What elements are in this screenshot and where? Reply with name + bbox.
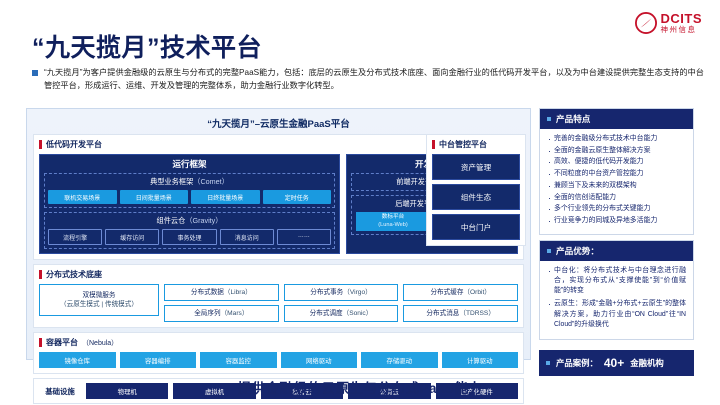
dual-mode-microservice-cell-wrap: 双模微服务 （云原生模式 | 传统模式） [39,284,159,322]
product-advantages-header: 产品优势： [540,241,693,261]
section-marker-icon [39,140,42,149]
feature-item: 多个行业领先的分布式关键能力 [547,204,686,215]
runtime-framework-title: 运行框架 [40,155,339,173]
product-features-header: 产品特点 [540,109,693,129]
comet-chip[interactable]: 日间批量场景 [120,190,189,204]
runtime-framework-card: 运行框架 典型业务框架（Comet） 联机交易场景 日间批量场景 日终批量场景 … [39,154,340,254]
section-marker-icon [39,338,42,347]
base-column: 分布式事务（Virgo） 分布式调度（Sonic） [284,284,399,322]
feature-item: 完善的金融级分布式技术中台能力 [547,134,686,145]
cell-cn: 分布式事务 [310,289,343,296]
comet-title-cn: 典型业务框架 [150,177,193,186]
product-features-list: 完善的金融级分布式技术中台能力 全面的金融云原生整体解决方案 高效、便捷的低代码… [540,129,693,234]
bullet-square-icon [546,361,550,365]
product-case-label: 产品案例： [556,357,598,369]
cell-cn: 分布式缓存 [430,289,463,296]
product-advantages-title: 产品优势： [556,245,599,257]
container-chip[interactable]: 容器监控 [200,352,277,368]
dual-mode-line2: （云原生模式 | 传统模式） [60,301,138,308]
container-chip[interactable]: 存储驱动 [361,352,438,368]
page-title: “九天揽月”技术平台 [32,28,262,64]
cell-cn: 分布式消息 [426,310,459,317]
container-platform-section: 容器平台 （Nebula） 镜像仓库 容器编排 容器监控 网络驱动 存储驱动 计… [33,332,524,374]
container-platform-sub: （Nebula） [82,338,118,348]
base-column: 分布式数据（Libra） 全局序列（Mars） [164,284,279,322]
control-box-portal[interactable]: 中台门户 [432,214,520,240]
architecture-diagram: “九天揽月”–云原生金融PaaS平台 低代码开发平台 运行框架 典型业务框架（C… [26,108,694,360]
container-chip[interactable]: 计算驱动 [442,352,519,368]
gravity-chip[interactable]: 事务处理 [162,229,216,245]
footer-caption: 提供金融级的云原生与分布式PaaS能力 [0,377,720,397]
cell-en: （Sonic） [343,310,373,317]
section-marker-icon [39,270,42,279]
feature-item: 不同粒度的中台资产管控能力 [547,169,686,180]
global-sequence-cell[interactable]: 全局序列（Mars） [164,305,279,322]
control-platform-card: 中台管控平台 资产管理 组件生态 中台门户 [426,134,526,246]
board-title: “九天揽月”–云原生金融PaaS平台 [33,114,524,134]
cell-cn: 全局序列 [194,310,220,317]
control-platform-wrapper: 中台管控平台 资产管理 组件生态 中台门户 [426,134,526,246]
cell-en: （Orbit） [463,289,490,296]
control-box-asset-management[interactable]: 资产管理 [432,154,520,180]
distributed-base-header: 分布式技术底座 [39,269,518,280]
cell-en: （Virgo） [343,289,371,296]
cell-en: （TDRSS） [459,310,495,317]
container-chip[interactable]: 网络驱动 [281,352,358,368]
product-case-bar: 产品案例： 40+ 金融机构 [539,350,694,376]
product-advantages-list: 中台化：将分布式技术与中台理念进行融合，实现分布式从“支撑使能”到“价值赋能”的… [540,261,693,339]
gravity-chip[interactable]: 流程引擎 [48,229,102,245]
container-platform-header: 容器平台 （Nebula） [39,337,518,348]
distributed-cache-cell[interactable]: 分布式缓存（Orbit） [403,284,518,301]
container-chip[interactable]: 镜像仓库 [39,352,116,368]
gravity-title: 组件云仓（Gravity） [48,216,331,229]
feature-item: 全面的金融云原生整体解决方案 [547,146,686,157]
advantage-item: 中台化：将分布式技术与中台理念进行融合，实现分布式从“支撑使能”到“价值赋能”的… [547,266,686,297]
comet-title-en: （Comet） [193,177,229,186]
section-marker-icon [432,140,435,149]
distributed-data-cell[interactable]: 分布式数据（Libra） [164,284,279,301]
cell-cn: 分布式调度 [310,310,343,317]
luna-web-en: (Luna-Web) [378,222,407,228]
cell-cn: 分布式数据 [191,289,224,296]
luna-web-cn: 数标平台 [382,214,404,220]
product-features-panel: 产品特点 完善的金融级分布式技术中台能力 全面的金融云原生整体解决方案 高效、便… [539,108,694,235]
brand-logo: DCITS 神州信息 [635,12,703,34]
platform-board-wrapper: “九天揽月”–云原生金融PaaS平台 低代码开发平台 运行框架 典型业务框架（C… [26,108,531,360]
lowcode-section-label: 低代码开发平台 [46,139,102,150]
product-case-unit: 金融机构 [630,357,664,369]
bullet-square-icon [32,70,38,76]
distributed-message-cell[interactable]: 分布式消息（TDRSS） [403,305,518,322]
distributed-scheduling-cell[interactable]: 分布式调度（Sonic） [284,305,399,322]
cell-en: （Mars） [221,310,249,317]
gravity-group: 组件云仓（Gravity） 流程引擎 缓存访问 事务处理 消息访问 …… [44,212,335,249]
dual-mode-microservice-cell[interactable]: 双模微服务 （云原生模式 | 传统模式） [39,284,159,316]
product-advantages-panel: 产品优势： 中台化：将分布式技术与中台理念进行融合，实现分布式从“支撑使能”到“… [539,240,694,340]
dual-mode-line1: 双模微服务 [83,292,116,299]
product-features-title: 产品特点 [556,113,590,125]
gravity-title-cn: 组件云仓 [157,216,186,225]
comet-title: 典型业务框架（Comet） [48,177,331,190]
advantage-item: 云原生：形成“金融+分布式+云原生”的整体解决方案，助力行业由“ON Cloud… [547,299,686,330]
brand-name-cn: 神州信息 [661,26,703,34]
control-platform-label: 中台管控平台 [439,139,487,150]
comet-group: 典型业务框架（Comet） 联机交易场景 日间批量场景 日终批量场景 定时任务 [44,173,335,208]
cell-en: （Libra） [224,289,252,296]
feature-item: 兼顾当下及未来的双模架构 [547,181,686,192]
distributed-transaction-cell[interactable]: 分布式事务（Virgo） [284,284,399,301]
feature-item: 高效、便捷的低代码开发能力 [547,157,686,168]
feature-item: 行业竞争力的同城及异地多活能力 [547,216,686,227]
gravity-title-en: （Gravity） [185,216,222,225]
control-box-component-ecosystem[interactable]: 组件生态 [432,184,520,210]
intro-text: “九天揽月”为客户提供金融级的云原生与分布式的完整PaaS能力，包括：底层的云原… [44,66,704,92]
bullet-square-icon [547,117,551,121]
comet-chip[interactable]: 联机交易场景 [48,190,117,204]
feature-item: 全面的信创适配能力 [547,193,686,204]
gravity-chip[interactable]: 缓存访问 [105,229,159,245]
luna-web-chip[interactable]: 数标平台 (Luna-Web) [356,212,430,231]
product-case-number: 40+ [604,356,624,370]
brand-name: DCITS [661,12,703,25]
intro-paragraph: “九天揽月”为客户提供金融级的云原生与分布式的完整PaaS能力，包括：底层的云原… [32,66,704,92]
control-platform-header: 中台管控平台 [432,139,520,150]
base-column: 分布式缓存（Orbit） 分布式消息（TDRSS） [403,284,518,322]
dcits-swirl-icon [635,12,657,34]
right-panels: 产品特点 完善的金融级分布式技术中台能力 全面的金融云原生整体解决方案 高效、便… [539,108,694,360]
gravity-chip[interactable]: 消息访问 [220,229,274,245]
distributed-base-label: 分布式技术底座 [46,269,102,280]
container-chip[interactable]: 容器编排 [120,352,197,368]
gravity-chip[interactable]: …… [277,229,331,245]
container-platform-label: 容器平台 [46,337,78,348]
distributed-base-section: 分布式技术底座 双模微服务 （云原生模式 | 传统模式） 分布式数据（Libra… [33,264,524,328]
bullet-square-icon [547,249,551,253]
comet-chip[interactable]: 日终批量场景 [191,190,260,204]
comet-chip[interactable]: 定时任务 [263,190,332,204]
